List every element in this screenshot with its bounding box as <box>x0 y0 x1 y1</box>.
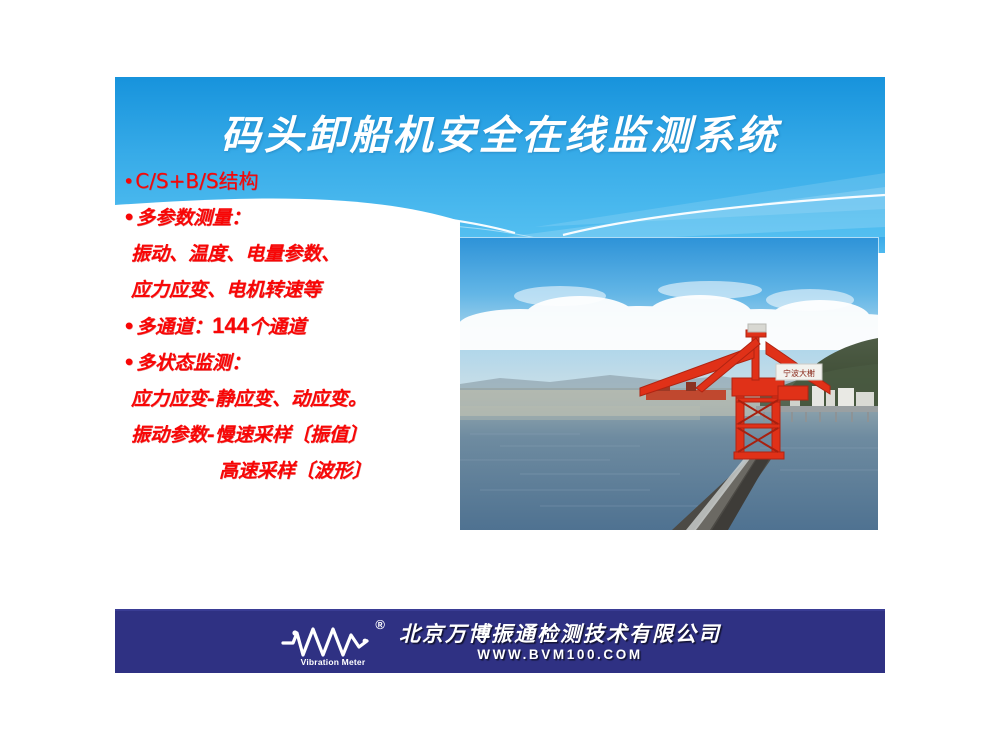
page-title: 码头卸船机安全在线监测系统 <box>115 103 885 161</box>
list-item: 应力应变-静应变、动应变。 <box>123 381 483 417</box>
list-item: •多状态监测： <box>123 345 483 381</box>
photo-content: 宁波大榭 <box>460 238 878 530</box>
list-item: 振动参数-慢速采样〔振值〕 <box>123 417 483 453</box>
bullet-list: •C/S+B/S结构 •多参数测量： 振动、温度、电量参数、 应力应变、电机转速… <box>123 163 483 489</box>
list-item-label-post: 个通道 <box>249 316 306 338</box>
bullet-marker: • <box>123 171 135 193</box>
port-unloader-photo: 宁波大榭 <box>460 238 878 530</box>
list-item-label: 应力应变-静应变、动应变。 <box>131 388 367 410</box>
bullet-marker: • <box>123 316 136 338</box>
list-item-label: 高速采样〔波形〕 <box>219 460 371 482</box>
bullet-marker: • <box>123 352 136 374</box>
list-item-label: 多参数测量： <box>136 207 250 229</box>
crane-sign-text: 宁波大榭 <box>783 368 815 378</box>
list-item: 振动、温度、电量参数、 <box>123 236 483 272</box>
list-item: •多参数测量： <box>123 200 483 236</box>
list-item-label: 应力应变、电机转速等 <box>131 279 321 301</box>
list-item-label: C/S+B/S结构 <box>135 169 258 193</box>
list-item: 应力应变、电机转速等 <box>123 272 483 308</box>
vibration-meter-logo: ® Vibration Meter <box>279 617 387 669</box>
list-item: •C/S+B/S结构 <box>123 163 483 200</box>
bullet-marker: • <box>123 207 136 229</box>
list-item-label: 振动、温度、电量参数、 <box>131 243 340 265</box>
list-item-label: 振动参数-慢速采样〔振值〕 <box>131 424 367 446</box>
footer-text-block: 北京万博振通检测技术有限公司 WWW.BVM100.COM <box>399 622 721 664</box>
list-item: 高速采样〔波形〕 <box>123 453 483 489</box>
company-name: 北京万博振通检测技术有限公司 <box>399 622 721 646</box>
slide-footer-band: ® Vibration Meter 北京万博振通检测技术有限公司 WWW.BVM… <box>115 609 885 673</box>
company-website: WWW.BVM100.COM <box>399 646 721 664</box>
list-item-channels: •多通道：144个通道 <box>123 308 483 345</box>
channel-count: 144 <box>212 313 249 338</box>
registered-trademark-icon: ® <box>375 617 385 632</box>
presentation-slide: 码头卸船机安全在线监测系统 •C/S+B/S结构 •多参数测量： 振动、温度、电… <box>115 77 885 673</box>
list-item-label: 多状态监测： <box>136 352 250 374</box>
list-item-label-pre: 多通道： <box>136 316 212 338</box>
logo-caption: Vibration Meter <box>287 657 379 667</box>
